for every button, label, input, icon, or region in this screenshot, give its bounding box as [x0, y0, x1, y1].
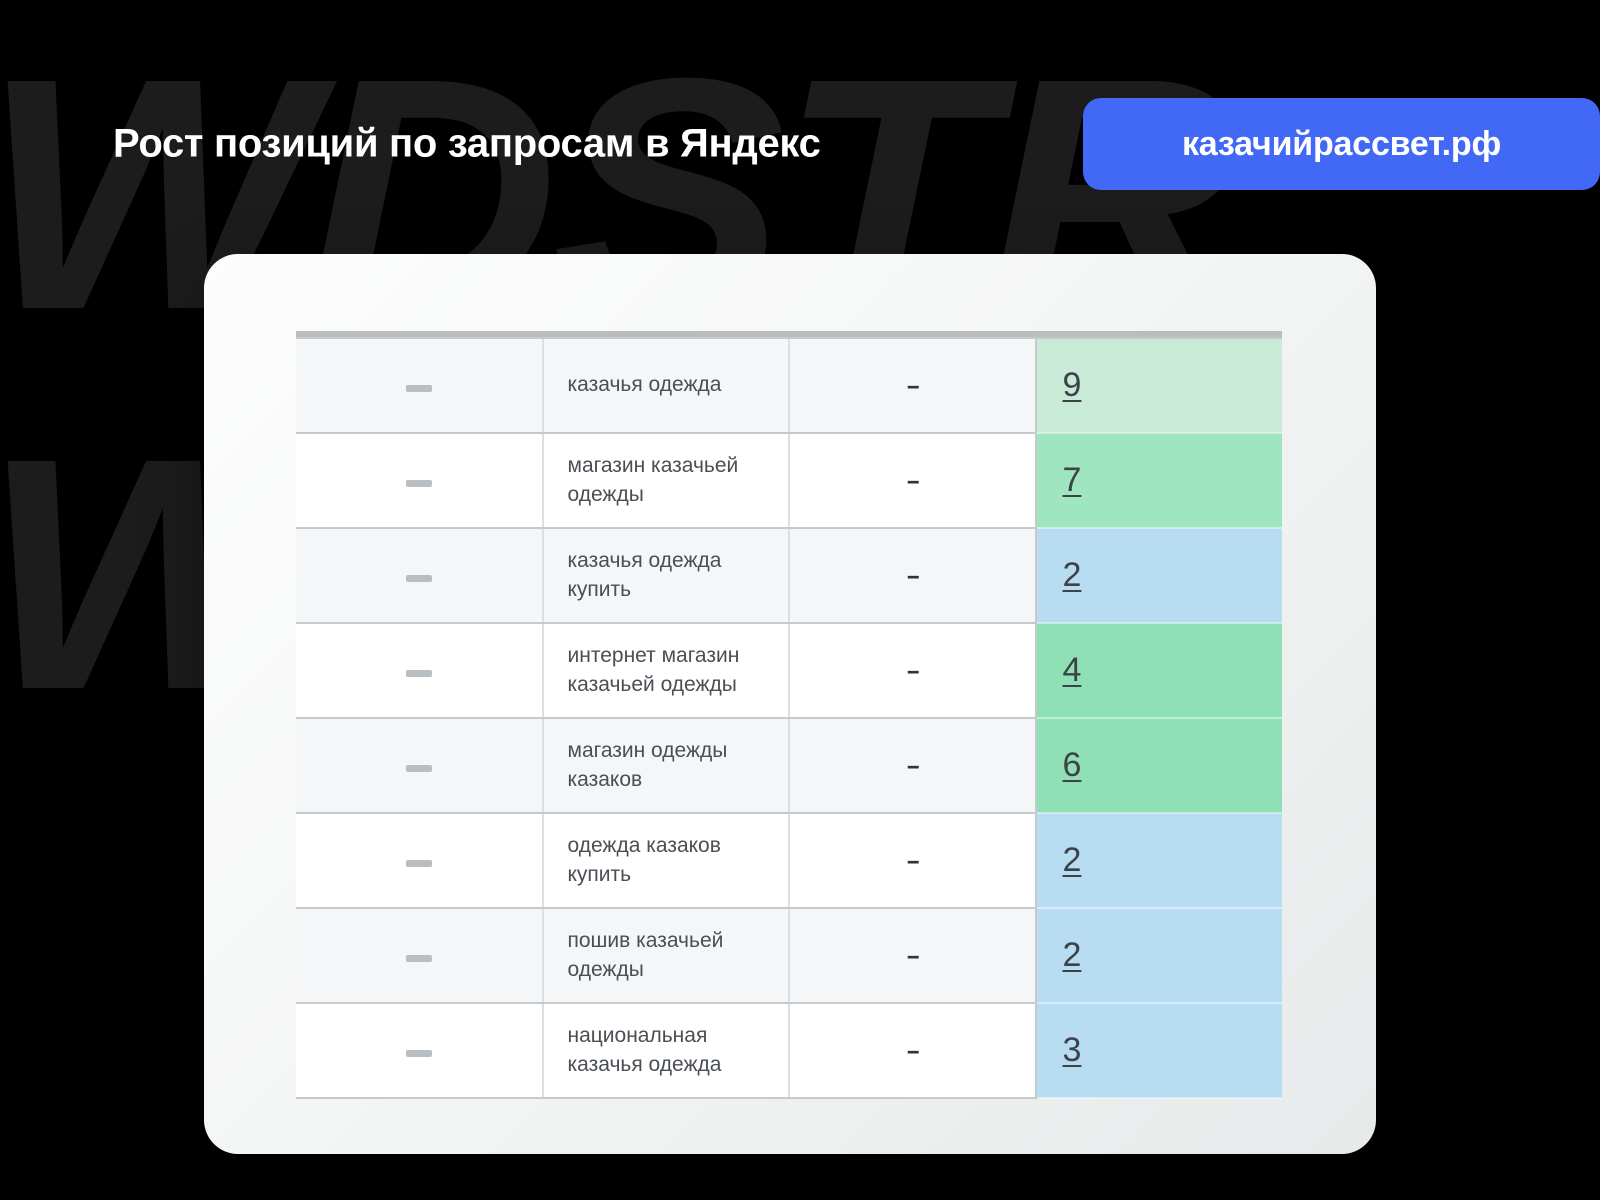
- position-link[interactable]: 2: [1063, 556, 1082, 594]
- dash-icon: --: [907, 753, 918, 779]
- position-cell: 3: [1036, 1003, 1283, 1098]
- table-row[interactable]: казачья одежда купить--2: [296, 528, 1282, 623]
- row-select-cell: [296, 338, 543, 433]
- table-row[interactable]: казачья одежда--9: [296, 338, 1282, 433]
- position-link[interactable]: 3: [1063, 1031, 1082, 1069]
- position-cell: 4: [1036, 623, 1283, 718]
- query-cell: одежда казаков купить: [543, 813, 790, 908]
- query-text: национальная казачья одежда: [568, 1022, 789, 1078]
- query-text: интернет магазин казачьей одежды: [568, 642, 789, 698]
- row-select-cell: [296, 433, 543, 528]
- query-cell: казачья одежда купить: [543, 528, 790, 623]
- minus-icon: [406, 575, 432, 582]
- row-select-cell: [296, 908, 543, 1003]
- change-cell: --: [789, 433, 1036, 528]
- position-link[interactable]: 4: [1063, 651, 1082, 689]
- table-row[interactable]: пошив казачьей одежды--2: [296, 908, 1282, 1003]
- change-cell: --: [789, 1003, 1036, 1098]
- change-cell: --: [789, 718, 1036, 813]
- query-text: пошив казачьей одежды: [568, 927, 789, 983]
- header-bar: Рост позиций по запросам в Яндекс казачи…: [0, 98, 1600, 190]
- minus-icon: [406, 670, 432, 677]
- query-cell: национальная казачья одежда: [543, 1003, 790, 1098]
- row-select-cell: [296, 623, 543, 718]
- minus-icon: [406, 480, 432, 487]
- row-select-cell: [296, 813, 543, 908]
- minus-icon: [406, 385, 432, 392]
- minus-icon: [406, 860, 432, 867]
- query-cell: магазин одежды казаков: [543, 718, 790, 813]
- position-link[interactable]: 9: [1063, 366, 1082, 404]
- position-cell: 2: [1036, 908, 1283, 1003]
- domain-badge[interactable]: казачийрассвет.рф: [1083, 98, 1600, 190]
- position-cell: 2: [1036, 813, 1283, 908]
- screenshot-card: казачья одежда--9магазин казачьей одежды…: [204, 254, 1376, 1154]
- query-text: одежда казаков купить: [568, 832, 789, 888]
- rankings-table-body: казачья одежда--9магазин казачьей одежды…: [296, 331, 1282, 1098]
- rankings-table: казачья одежда--9магазин казачьей одежды…: [296, 331, 1282, 1099]
- position-link[interactable]: 7: [1063, 461, 1082, 499]
- position-link[interactable]: 2: [1063, 841, 1082, 879]
- query-cell: казачья одежда: [543, 338, 790, 433]
- change-cell: --: [789, 338, 1036, 433]
- position-cell: 6: [1036, 718, 1283, 813]
- row-select-cell: [296, 528, 543, 623]
- table-row[interactable]: интернет магазин казачьей одежды--4: [296, 623, 1282, 718]
- change-cell: --: [789, 813, 1036, 908]
- row-select-cell: [296, 1003, 543, 1098]
- dash-icon: --: [907, 1038, 918, 1064]
- change-cell: --: [789, 528, 1036, 623]
- position-cell: 7: [1036, 433, 1283, 528]
- top-rule-cell: [296, 331, 1282, 338]
- query-text: магазин казачьей одежды: [568, 452, 789, 508]
- query-text: магазин одежды казаков: [568, 737, 789, 793]
- query-text: казачья одежда: [568, 371, 789, 399]
- dash-icon: --: [907, 848, 918, 874]
- table-row[interactable]: магазин казачьей одежды--7: [296, 433, 1282, 528]
- dash-icon: --: [907, 468, 918, 494]
- query-cell: интернет магазин казачьей одежды: [543, 623, 790, 718]
- position-cell: 9: [1036, 338, 1283, 433]
- dash-icon: --: [907, 373, 918, 399]
- change-cell: --: [789, 908, 1036, 1003]
- table-top-rule: [296, 331, 1282, 338]
- change-cell: --: [789, 623, 1036, 718]
- dash-icon: --: [907, 563, 918, 589]
- table-row[interactable]: национальная казачья одежда--3: [296, 1003, 1282, 1098]
- minus-icon: [406, 765, 432, 772]
- minus-icon: [406, 955, 432, 962]
- position-cell: 2: [1036, 528, 1283, 623]
- page-title: Рост позиций по запросам в Яндекс: [113, 122, 821, 167]
- position-link[interactable]: 6: [1063, 746, 1082, 784]
- table-row[interactable]: одежда казаков купить--2: [296, 813, 1282, 908]
- table-row[interactable]: магазин одежды казаков--6: [296, 718, 1282, 813]
- position-link[interactable]: 2: [1063, 936, 1082, 974]
- dash-icon: --: [907, 943, 918, 969]
- query-cell: магазин казачьей одежды: [543, 433, 790, 528]
- minus-icon: [406, 1050, 432, 1057]
- query-cell: пошив казачьей одежды: [543, 908, 790, 1003]
- row-select-cell: [296, 718, 543, 813]
- dash-icon: --: [907, 658, 918, 684]
- query-text: казачья одежда купить: [568, 547, 789, 603]
